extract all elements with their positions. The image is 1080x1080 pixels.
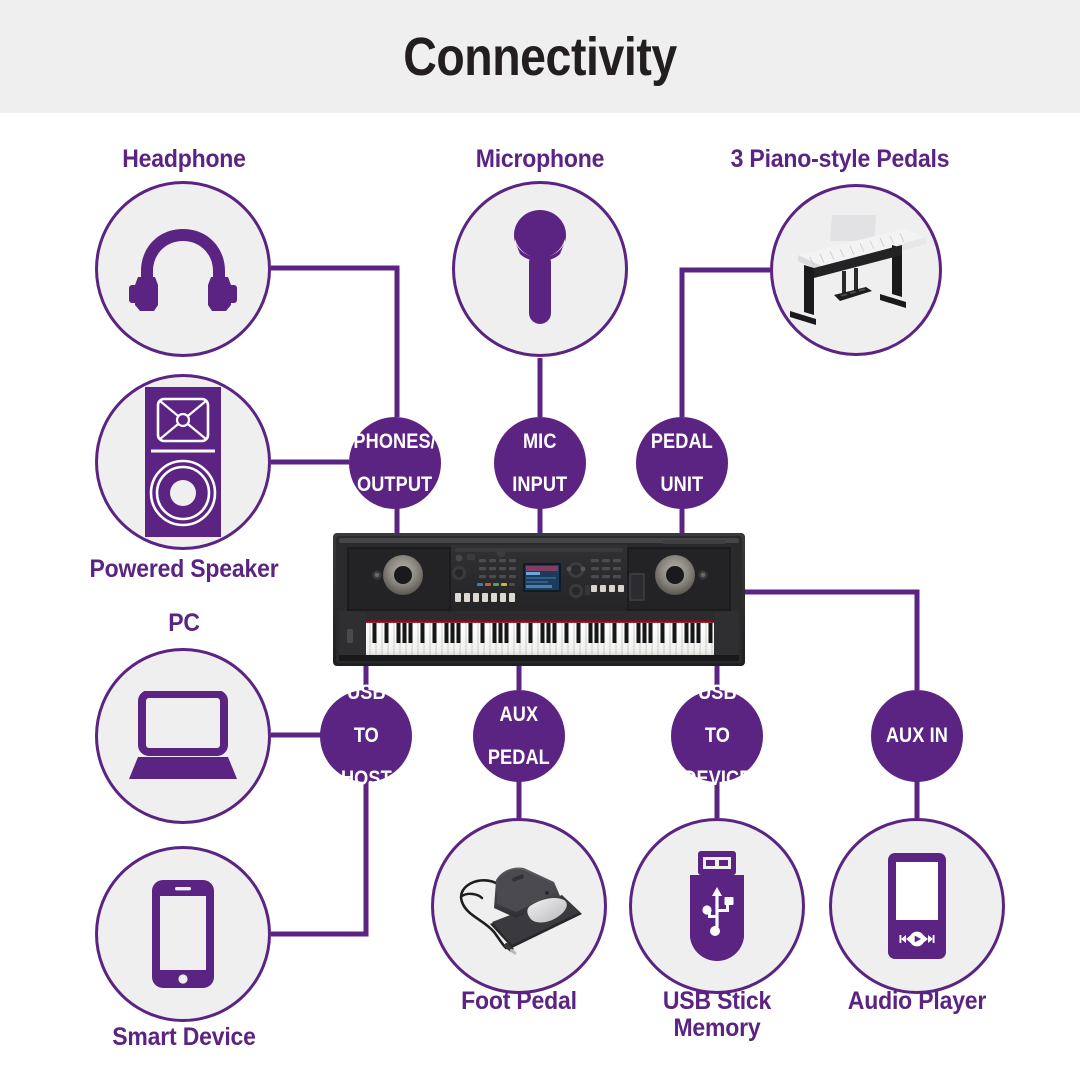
audio-player-icon bbox=[884, 851, 950, 961]
device-microphone[interactable] bbox=[452, 181, 628, 357]
device-foot-pedal[interactable] bbox=[431, 818, 607, 994]
wire-piano-to-aux-in bbox=[742, 592, 917, 690]
powered-speaker-icon bbox=[139, 387, 227, 537]
digital-piano-illustration: YAMAHA bbox=[333, 533, 745, 666]
headphone-icon bbox=[128, 221, 238, 317]
caption-foot-pedal: Foot Pedal bbox=[409, 988, 630, 1015]
port-pedal-unit[interactable]: PEDALUNIT bbox=[636, 417, 728, 509]
device-pc[interactable] bbox=[95, 648, 271, 824]
port-usb-to-device[interactable]: USBTODEVICE bbox=[671, 690, 763, 782]
device-smart-device[interactable] bbox=[95, 846, 271, 1022]
caption-pc: PC bbox=[74, 610, 295, 637]
caption-audio-player: Audio Player bbox=[807, 988, 1028, 1015]
port-usb-to-device-l1: USB bbox=[683, 682, 751, 703]
port-usb-to-host[interactable]: USBTOHOST bbox=[320, 690, 412, 782]
smartphone-icon bbox=[150, 878, 216, 990]
wire-headphone-to-phones bbox=[271, 268, 397, 417]
wire-pedals-to-pedal-unit bbox=[682, 270, 770, 417]
port-phones-output-l1: PHONES/ bbox=[354, 431, 436, 452]
caption-smart-device: Smart Device bbox=[74, 1024, 295, 1051]
port-phones-output[interactable]: PHONES/OUTPUT bbox=[349, 417, 441, 509]
microphone-icon bbox=[503, 207, 577, 331]
port-usb-to-host-l3: HOST bbox=[341, 768, 392, 789]
port-pedal-unit-l1: PEDAL bbox=[651, 431, 713, 452]
device-usb-stick[interactable] bbox=[629, 818, 805, 994]
port-aux-in-l1: AUX IN bbox=[886, 725, 948, 746]
port-pedal-unit-l2: UNIT bbox=[651, 474, 713, 495]
port-phones-output-l2: OUTPUT bbox=[354, 474, 436, 495]
port-aux-pedal-l2: PEDAL bbox=[488, 747, 550, 768]
device-headphone[interactable] bbox=[95, 181, 271, 357]
device-audio-player[interactable] bbox=[829, 818, 1005, 994]
caption-usb-stick-line1: USB Stick bbox=[663, 987, 771, 1015]
wire-usb-host-to-smart-device bbox=[271, 780, 366, 934]
port-usb-to-device-l3: DEVICE bbox=[683, 768, 751, 789]
port-usb-to-device-l2: TO bbox=[683, 725, 751, 746]
port-mic-input-l2: INPUT bbox=[513, 474, 568, 495]
laptop-icon bbox=[129, 691, 237, 781]
connectivity-diagram: Connectivity bbox=[0, 0, 1080, 1080]
port-aux-pedal-l1: AUX bbox=[488, 704, 550, 725]
port-mic-input-l1: MIC bbox=[513, 431, 568, 452]
caption-microphone: Microphone bbox=[430, 146, 651, 173]
digital-piano: YAMAHA bbox=[333, 533, 745, 666]
usb-stick-icon bbox=[684, 849, 750, 963]
port-mic-input[interactable]: MICINPUT bbox=[494, 417, 586, 509]
device-piano-stand-pedals[interactable] bbox=[770, 184, 942, 356]
caption-usb-stick: USB StickMemory bbox=[607, 988, 828, 1042]
port-aux-in[interactable]: AUX IN bbox=[871, 690, 963, 782]
caption-usb-stick-line2: Memory bbox=[673, 1014, 760, 1042]
device-powered-speaker[interactable] bbox=[95, 374, 271, 550]
port-usb-to-host-l2: TO bbox=[341, 725, 392, 746]
caption-pedals: 3 Piano-style Pedals bbox=[711, 146, 969, 173]
piano-stand-pedals-icon bbox=[780, 211, 932, 329]
caption-powered-speaker: Powered Speaker bbox=[74, 556, 295, 583]
caption-headphone: Headphone bbox=[74, 146, 295, 173]
foot-pedal-icon bbox=[450, 852, 588, 960]
port-usb-to-host-l1: USB bbox=[341, 682, 392, 703]
port-aux-pedal[interactable]: AUXPEDAL bbox=[473, 690, 565, 782]
